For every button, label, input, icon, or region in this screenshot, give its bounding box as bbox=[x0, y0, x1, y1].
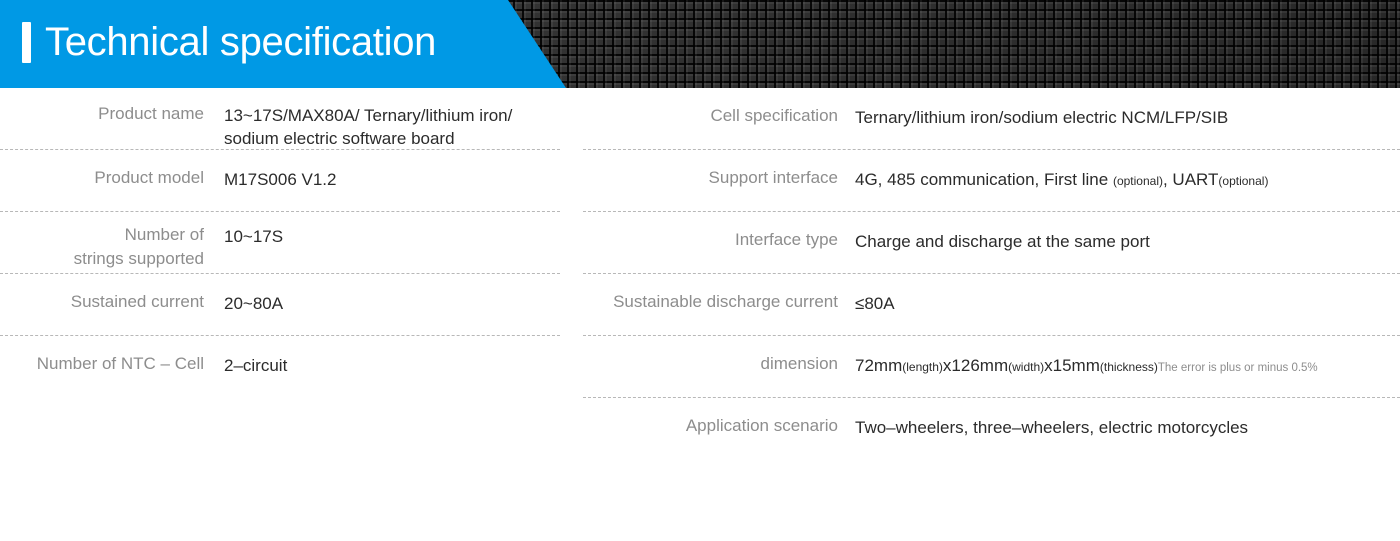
spec-value: 13~17S/MAX80A/ Ternary/lithium iron/ sod… bbox=[204, 102, 560, 150]
spec-row-product-name: Product name 13~17S/MAX80A/ Ternary/lith… bbox=[0, 88, 560, 150]
dimension-tolerance-note: The error is plus or minus 0.5% bbox=[1158, 362, 1318, 374]
spec-label: Number of strings supported bbox=[0, 223, 204, 271]
spec-value: 2–circuit bbox=[204, 352, 560, 377]
dimension-width-unit-note: (width) bbox=[1008, 360, 1044, 374]
spec-label: Support interface bbox=[583, 166, 838, 190]
spec-column-left: Product name 13~17S/MAX80A/ Ternary/lith… bbox=[0, 88, 560, 398]
spec-row-support-interface: Support interface 4G, 485 communication,… bbox=[583, 150, 1400, 212]
spec-label: Product name bbox=[0, 102, 204, 126]
spec-label: dimension bbox=[583, 352, 838, 376]
spec-label: Sustainable discharge current bbox=[583, 290, 838, 314]
spec-value: 10~17S bbox=[204, 223, 560, 248]
page-header: Technical specification bbox=[0, 0, 1400, 88]
spec-label: Number of NTC – Cell bbox=[0, 352, 204, 376]
spec-value: Two–wheelers, three–wheelers, electric m… bbox=[838, 414, 1400, 439]
dimension-thickness-unit-note: (thickness) bbox=[1100, 360, 1158, 374]
spec-row-application-scenario: Application scenario Two–wheelers, three… bbox=[583, 398, 1400, 460]
spec-label: Product model bbox=[0, 166, 204, 190]
spec-row-interface-type: Interface type Charge and discharge at t… bbox=[583, 212, 1400, 274]
spec-value-text: 4G, 485 communication, First line bbox=[855, 170, 1113, 189]
spec-value-line-1: 13~17S/MAX80A/ Ternary/lithium iron/ bbox=[224, 104, 560, 127]
spec-row-cell-specification: Cell specification Ternary/lithium iron/… bbox=[583, 88, 1400, 150]
spec-value-text-2: , UART bbox=[1163, 170, 1218, 189]
specification-table: Product name 13~17S/MAX80A/ Ternary/lith… bbox=[0, 88, 1400, 541]
dimension-length-value: 72mm bbox=[855, 356, 902, 375]
spec-value: Charge and discharge at the same port bbox=[838, 228, 1400, 253]
spec-row-ntc-cell: Number of NTC – Cell 2–circuit bbox=[0, 336, 560, 398]
spec-row-sustainable-discharge-current: Sustainable discharge current ≤80A bbox=[583, 274, 1400, 336]
spec-value-line-2: sodium electric software board bbox=[224, 127, 560, 150]
dimension-width-value: x126mm bbox=[943, 356, 1008, 375]
title-accent-bar-icon bbox=[22, 22, 31, 63]
spec-value-optional-note-2: (optional) bbox=[1218, 174, 1268, 188]
spec-value: 20~80A bbox=[204, 290, 560, 315]
page-title: Technical specification bbox=[45, 16, 436, 68]
spec-value: Ternary/lithium iron/sodium electric NCM… bbox=[838, 104, 1400, 129]
spec-row-sustained-current: Sustained current 20~80A bbox=[0, 274, 560, 336]
spec-column-right: Cell specification Ternary/lithium iron/… bbox=[583, 88, 1400, 460]
dimension-length-unit-note: (length) bbox=[902, 360, 943, 374]
spec-value: 4G, 485 communication, First line (optio… bbox=[838, 166, 1400, 193]
spec-row-dimension: dimension 72mm(length)x126mm(width)x15mm… bbox=[583, 336, 1400, 398]
spec-row-product-model: Product model M17S006 V1.2 bbox=[0, 150, 560, 212]
spec-value: 72mm(length)x126mm(width)x15mm(thickness… bbox=[838, 352, 1400, 380]
dimension-thickness-value: x15mm bbox=[1044, 356, 1100, 375]
spec-label: Application scenario bbox=[583, 414, 838, 438]
spec-value: ≤80A bbox=[838, 290, 1400, 315]
spec-label: Cell specification bbox=[583, 104, 838, 128]
spec-label: Sustained current bbox=[0, 290, 204, 314]
spec-label: Interface type bbox=[583, 228, 838, 252]
spec-value: M17S006 V1.2 bbox=[204, 166, 560, 191]
spec-row-strings-supported: Number of strings supported 10~17S bbox=[0, 212, 560, 274]
spec-value-optional-note-1: (optional) bbox=[1113, 174, 1163, 188]
